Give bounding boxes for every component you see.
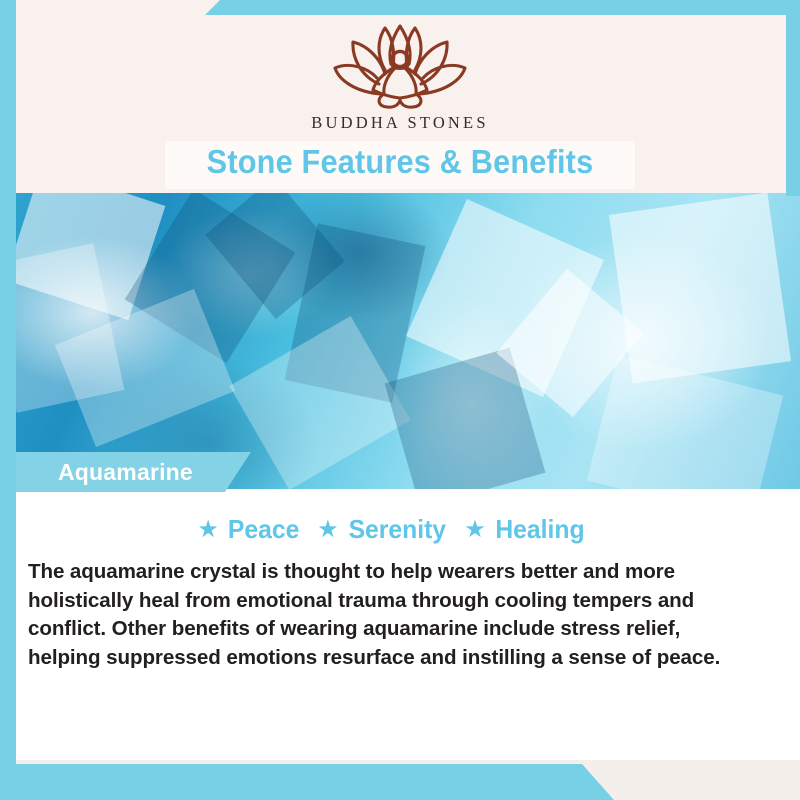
stone-benefits-infographic: BUDDHA STONES Stone Features & Benefits …: [0, 0, 800, 800]
brand-logo: BUDDHA STONES: [0, 18, 800, 133]
star-icon: ★: [197, 515, 219, 544]
frame-left-accent-bar: [0, 0, 16, 800]
lotus-meditation-figure-icon: [325, 18, 475, 110]
crystal-facet: [609, 193, 791, 383]
benefit-keyword-serenity: Serenity: [348, 514, 445, 545]
stone-name-banner: Aquamarine: [16, 452, 251, 492]
aquamarine-crystal-photo: [0, 193, 800, 489]
page-title: Stone Features & Benefits: [28, 143, 772, 181]
star-icon: ★: [317, 515, 339, 544]
benefit-keyword-peace: Peace: [228, 514, 299, 545]
crystal-facet: [587, 354, 783, 489]
header-band: BUDDHA STONES Stone Features & Benefits: [0, 0, 800, 196]
benefit-keywords: ★Peace★Serenity★Healing: [0, 514, 784, 545]
star-icon: ★: [464, 515, 486, 544]
frame-right-accent-bar: [786, 0, 800, 196]
benefit-keyword-healing: Healing: [495, 514, 584, 545]
brand-name: BUDDHA STONES: [0, 113, 800, 133]
stone-name: Aquamarine: [58, 459, 193, 486]
description-paragraph: The aquamarine crystal is thought to hel…: [28, 558, 758, 672]
